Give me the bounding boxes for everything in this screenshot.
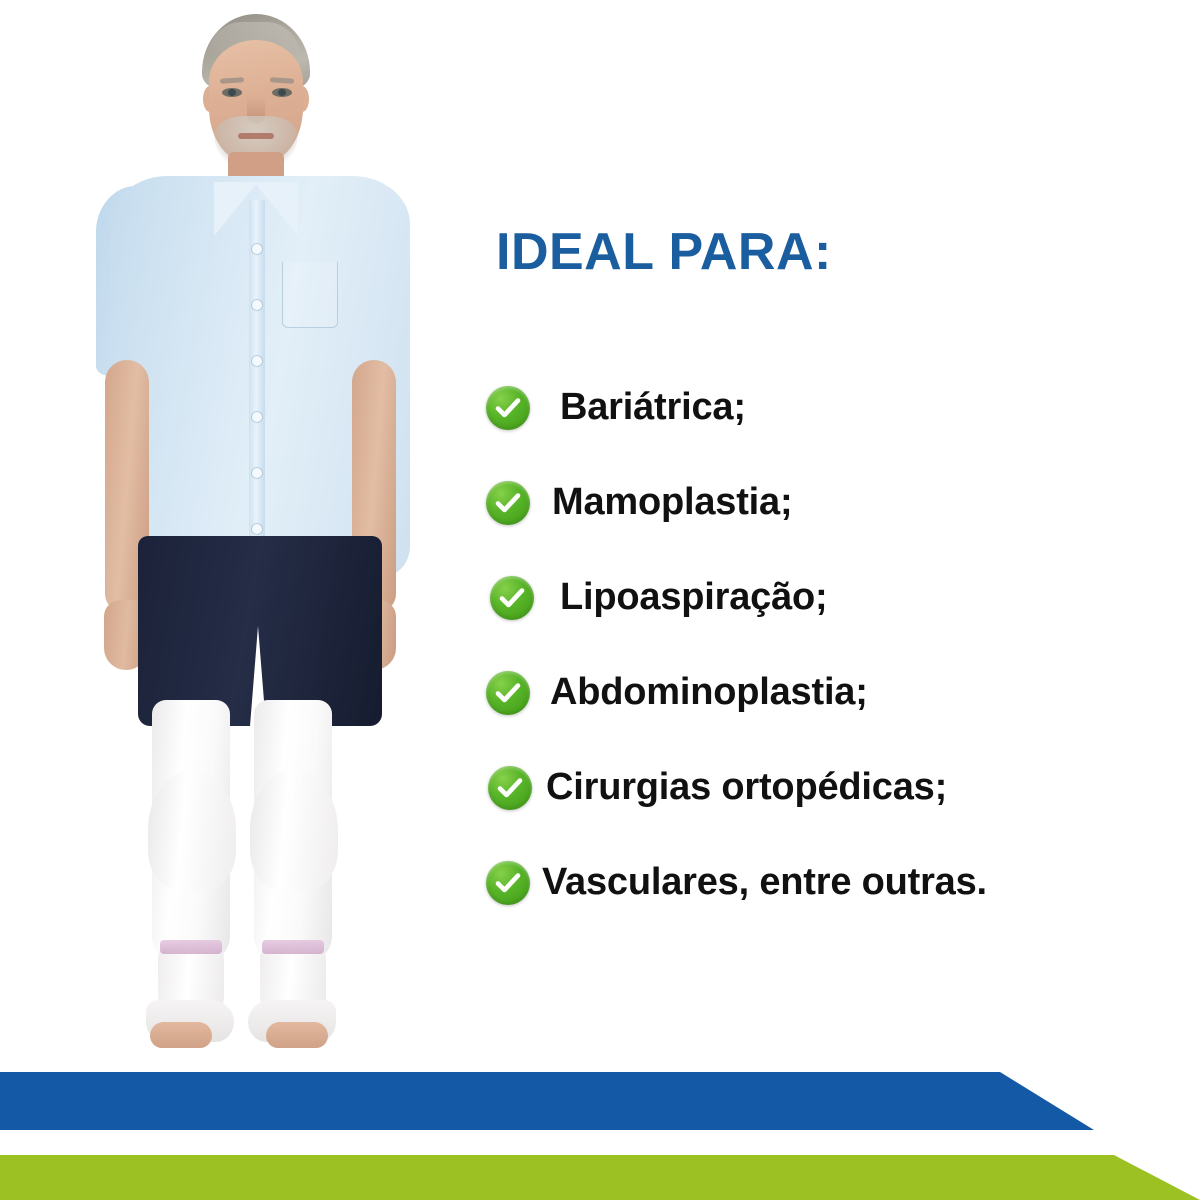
model-calf-right — [250, 770, 338, 890]
model-toes-left — [150, 1022, 212, 1048]
model-eye-left — [222, 88, 242, 97]
check-circle-icon — [486, 481, 530, 525]
shirt-button — [252, 524, 262, 534]
model-figure — [0, 0, 470, 1060]
list-item: Mamoplastia; — [486, 455, 1200, 550]
blue-accent-band — [0, 1072, 1200, 1130]
check-circle-icon — [486, 861, 530, 905]
stocking-band-right — [262, 940, 324, 954]
list-item-label: Abdominoplastia; — [550, 671, 868, 714]
green-accent-band — [0, 1155, 1200, 1200]
man-wearing-compression-stockings-photo — [0, 0, 470, 1060]
page-title: IDEAL PARA: — [496, 222, 832, 282]
shirt-button — [252, 468, 262, 478]
footer-accent-bands — [0, 1060, 1200, 1200]
check-circle-icon — [490, 576, 534, 620]
content-panel: IDEAL PARA: Bariátrica; Mamoplastia; — [486, 0, 1200, 1060]
shirt-chest-pocket — [282, 262, 338, 328]
model-calf-left — [148, 770, 236, 890]
check-circle-icon — [486, 386, 530, 430]
shirt-button — [252, 300, 262, 310]
promo-poster: IDEAL PARA: Bariátrica; Mamoplastia; — [0, 0, 1200, 1200]
check-circle-icon — [486, 671, 530, 715]
model-mouth — [238, 133, 274, 139]
shirt-button — [252, 412, 262, 422]
model-eye-right — [272, 88, 292, 97]
model-toes-right — [266, 1022, 328, 1048]
shirt-placket — [249, 200, 265, 574]
shirt-button — [252, 244, 262, 254]
list-item: Bariátrica; — [486, 360, 1200, 455]
benefits-list: Bariátrica; Mamoplastia; Lipoaspiração; — [486, 360, 1200, 930]
stocking-band-left — [160, 940, 222, 954]
list-item-label: Cirurgias ortopédicas; — [546, 766, 947, 809]
list-item: Abdominoplastia; — [486, 645, 1200, 740]
shirt-button — [252, 356, 262, 366]
list-item-label: Vasculares, entre outras. — [542, 861, 987, 904]
list-item: Vasculares, entre outras. — [486, 835, 1200, 930]
list-item-label: Mamoplastia; — [552, 481, 792, 524]
list-item: Cirurgias ortopédicas; — [486, 740, 1200, 835]
list-item-label: Bariátrica; — [560, 386, 746, 429]
list-item: Lipoaspiração; — [486, 550, 1200, 645]
check-circle-icon — [488, 766, 532, 810]
list-item-label: Lipoaspiração; — [560, 576, 828, 619]
